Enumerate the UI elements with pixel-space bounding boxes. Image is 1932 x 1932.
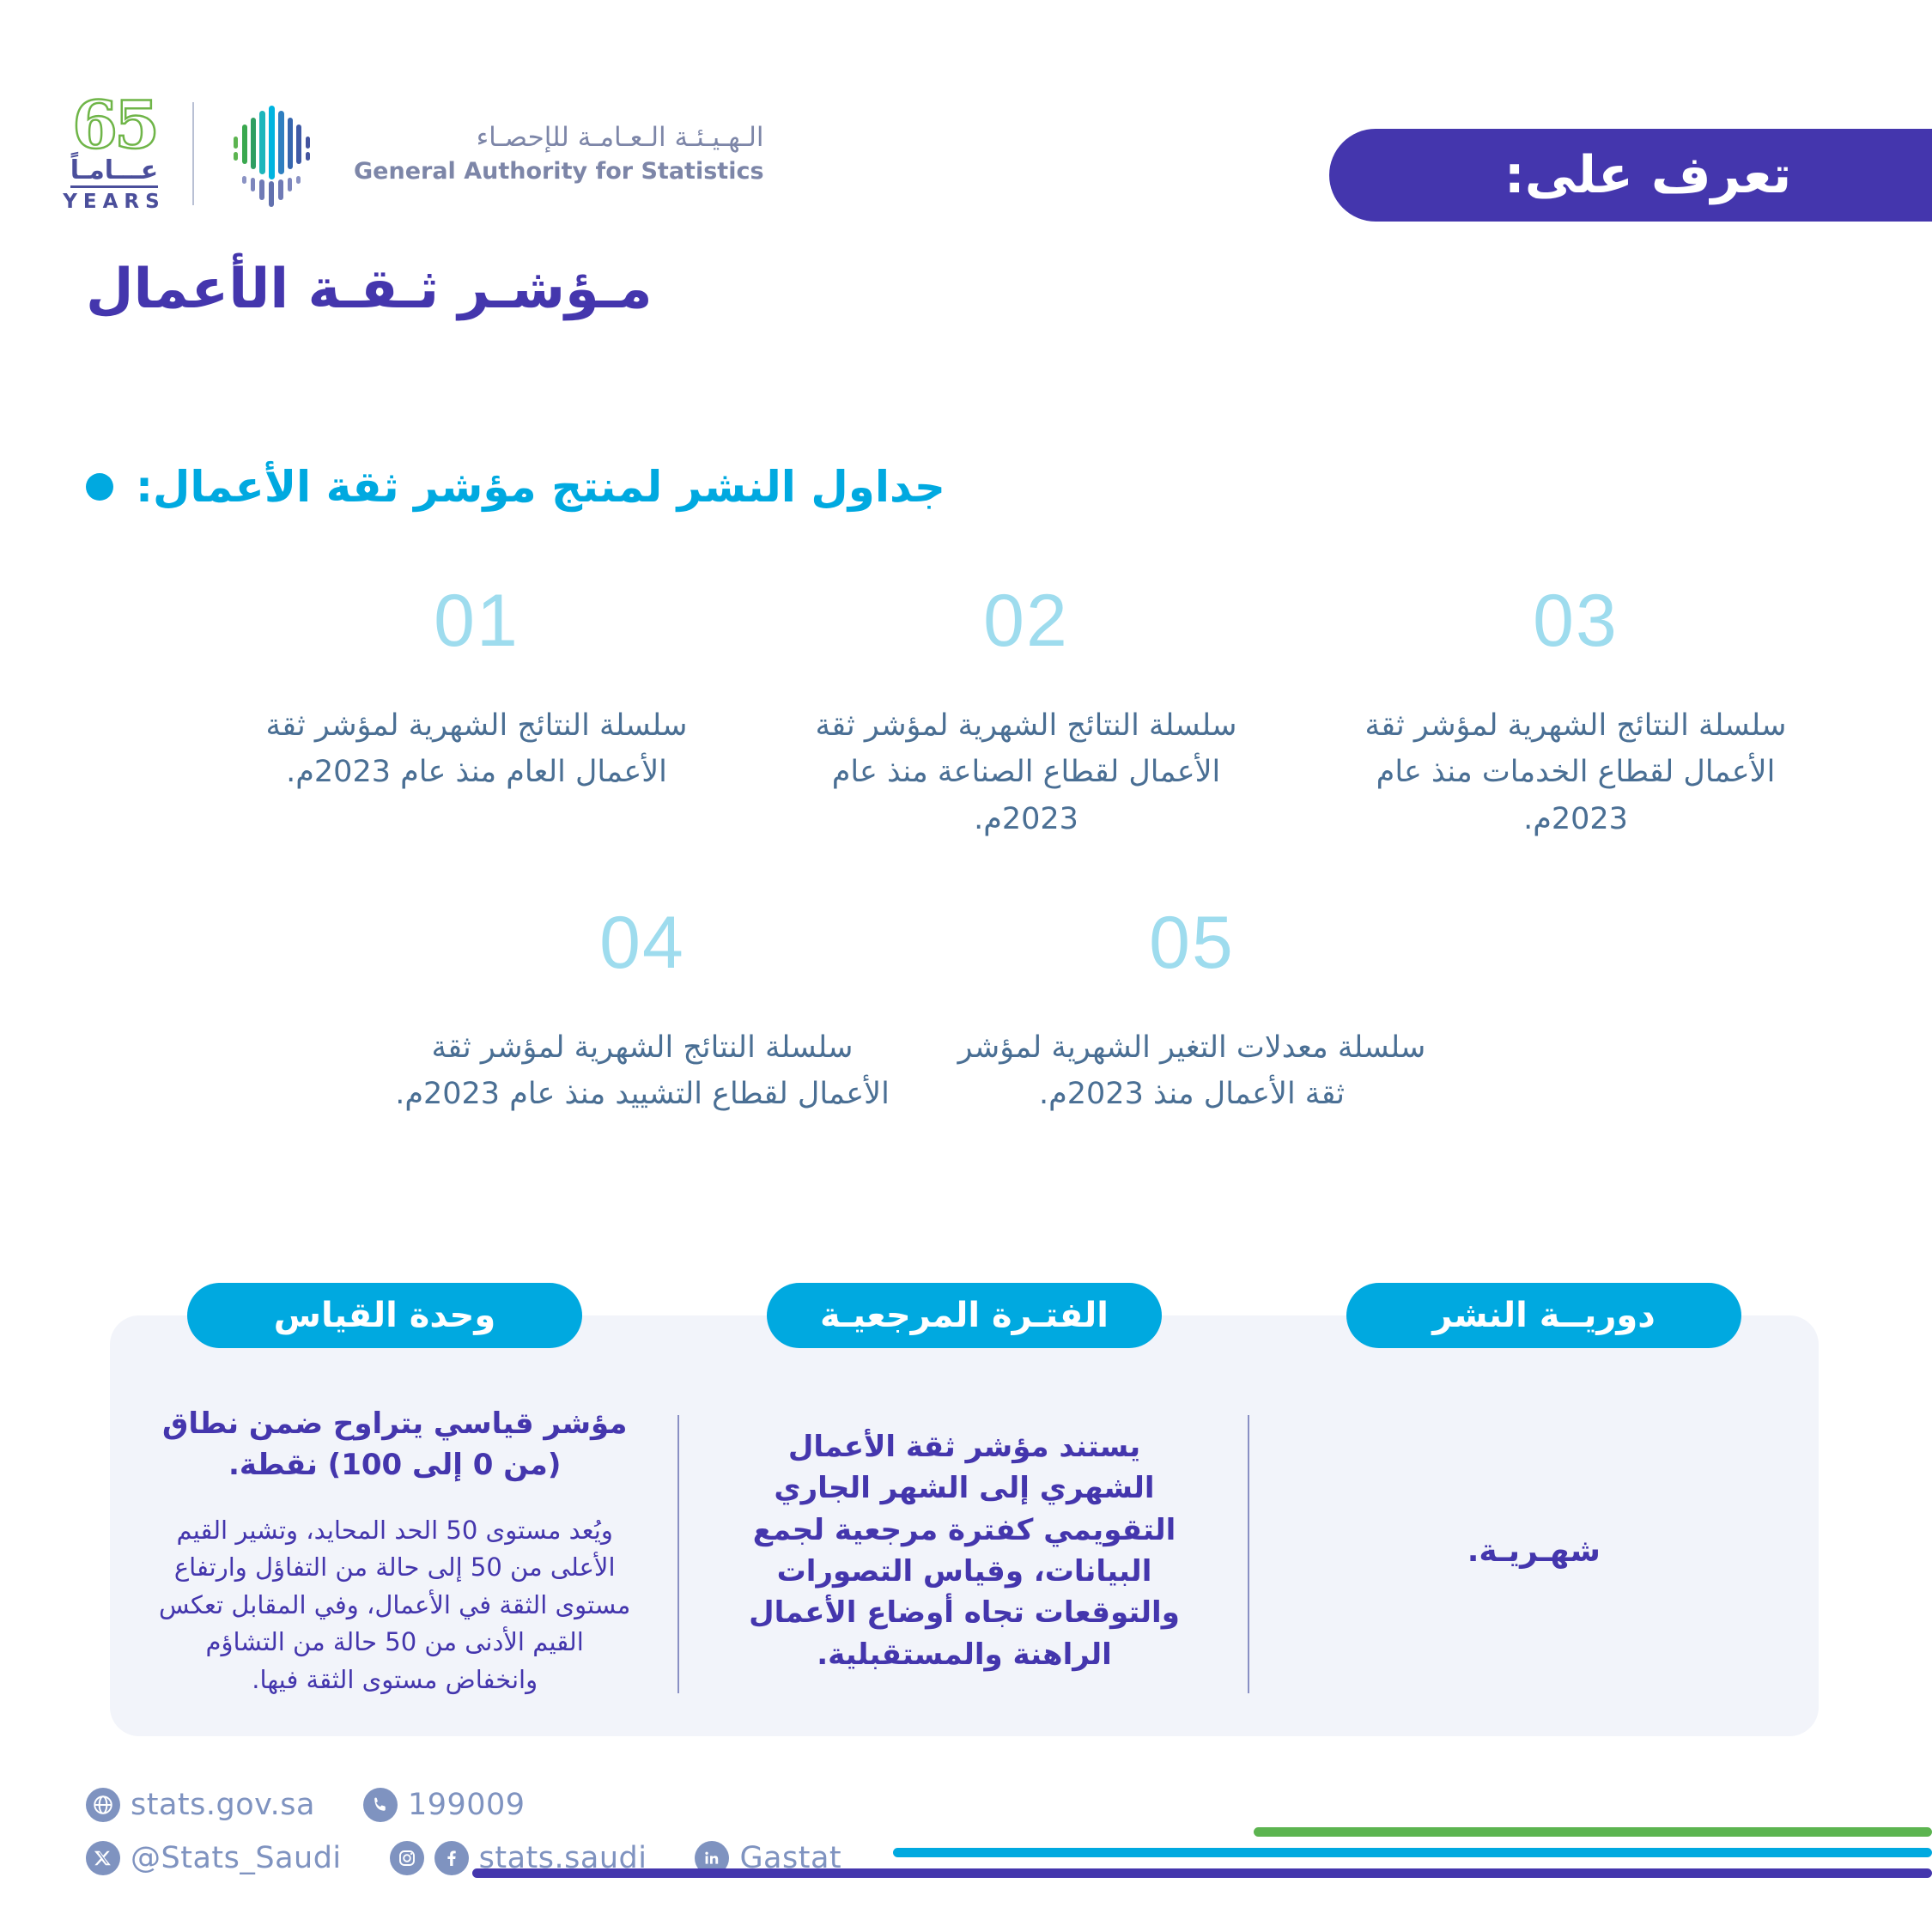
item-number: 04	[599, 906, 685, 980]
bullet-dot-icon	[86, 473, 113, 501]
phone-label: 199009	[408, 1788, 526, 1822]
logo-divider	[192, 102, 194, 205]
publication-frequency-value: شهـريـة.	[1467, 1534, 1601, 1569]
item-description: سلسلة النتائج الشهرية لمؤشر ثقة الأعمال …	[395, 1024, 890, 1118]
tab-label: الفتـرة المرجعيـة	[820, 1296, 1109, 1335]
publication-item-01: 01 سلسلة النتائج الشهرية لمؤشر ثقة الأعم…	[202, 584, 751, 842]
item-description: سلسلة معدلات التغير الشهرية لمؤشر ثقة ال…	[945, 1024, 1439, 1118]
page-title: مـؤشـر ثـقـة الأعمال	[0, 258, 1932, 321]
section-heading-label: جداول النشر لمنتج مؤشر ثقة الأعمال:	[136, 462, 945, 512]
gastat-wordmark: الـهـيـئـة الـعـامـة للإحصـاء General Au…	[354, 122, 764, 185]
footer-website[interactable]: stats.gov.sa	[86, 1788, 315, 1822]
publication-item-03: 03 سلسلة النتائج الشهرية لمؤشر ثقة الأعم…	[1301, 584, 1850, 842]
panel-column-unit-of-measure: مؤشر قياسي يتراوح ضمن نطاق (من 0 إلى 100…	[110, 1365, 679, 1736]
panel-column-reference-period: يستند مؤشر ثقة الأعمال الشهري إلى الشهر …	[679, 1365, 1249, 1736]
item-description: سلسلة النتائج الشهرية لمؤشر ثقة الأعمال …	[779, 702, 1273, 842]
publication-item-02: 02 سلسلة النتائج الشهرية لمؤشر ثقة الأعم…	[751, 584, 1301, 842]
item-number: 02	[983, 584, 1069, 658]
globe-icon	[86, 1788, 120, 1822]
info-panel-columns: شهـريـة. يستند مؤشر ثقة الأعمال الشهري إ…	[110, 1365, 1819, 1736]
tab-unit-of-measure[interactable]: وحدة القياس	[187, 1283, 582, 1348]
tab-publication-frequency[interactable]: دوريــة النشر	[1346, 1283, 1741, 1348]
item-description: سلسلة النتائج الشهرية لمؤشر ثقة الأعمال …	[229, 702, 724, 796]
item-number: 01	[434, 584, 519, 658]
bar-green	[1254, 1827, 1932, 1837]
anniversary-65-logo: 65 عـــامـاً YEARS	[58, 94, 170, 212]
panel-column-publication-frequency: شهـريـة.	[1249, 1365, 1819, 1736]
authority-name-english: General Authority for Statistics	[354, 158, 764, 185]
section-heading: جداول النشر لمنتج مؤشر ثقة الأعمال:	[0, 462, 1932, 512]
phone-icon	[363, 1788, 398, 1822]
footer-phone[interactable]: 199009	[363, 1788, 526, 1822]
item-number: 03	[1533, 584, 1619, 658]
footer-line-1: stats.gov.sa 199009	[86, 1788, 871, 1822]
tab-label: دوريــة النشر	[1432, 1296, 1656, 1335]
publication-item-04: 04 سلسلة النتائج الشهرية لمؤشر ثقة الأعم…	[368, 906, 917, 1118]
authority-name-arabic: الـهـيـئـة الـعـامـة للإحصـاء	[354, 122, 764, 153]
header-banner-label: تعرف على:	[1504, 149, 1791, 201]
infographic-page: 65 عـــامـاً YEARS	[0, 0, 1932, 1932]
tab-reference-period[interactable]: الفتـرة المرجعيـة	[767, 1283, 1162, 1348]
publication-item-05: 05 سلسلة معدلات التغير الشهرية لمؤشر ثقة…	[917, 906, 1467, 1118]
unit-of-measure-lead: مؤشر قياسي يتراوح ضمن نطاق (من 0 إلى 100…	[158, 1403, 631, 1486]
publication-tables-row-2: 05 سلسلة معدلات التغير الشهرية لمؤشر ثقة…	[350, 906, 1467, 1118]
gastat-emblem-icon	[216, 95, 328, 211]
item-description: سلسلة النتائج الشهرية لمؤشر ثقة الأعمال …	[1328, 702, 1823, 842]
website-label: stats.gov.sa	[131, 1788, 315, 1822]
anniversary-arabic-label: عـــامـاً	[70, 158, 159, 188]
header-banner: تعرف على:	[1329, 129, 1932, 222]
info-panel-tabs: دوريــة النشر الفتـرة المرجعيـة وحدة الق…	[110, 1283, 1819, 1348]
publication-tables-row-1: 03 سلسلة النتائج الشهرية لمؤشر ثقة الأعم…	[82, 584, 1850, 842]
bar-purple	[472, 1868, 1932, 1878]
unit-of-measure-body: ويُعد مستوى 50 الحد المحايد، وتشير القيم…	[158, 1512, 631, 1699]
gastat-logo-block: 65 عـــامـاً YEARS	[58, 94, 764, 212]
anniversary-number: 65	[72, 94, 156, 156]
tab-label: وحدة القياس	[274, 1296, 495, 1335]
item-number: 05	[1149, 906, 1235, 980]
footer-decorative-bars	[0, 1827, 1932, 1887]
anniversary-years-label: YEARS	[63, 192, 165, 212]
bar-cyan	[893, 1848, 1932, 1857]
reference-period-text: يستند مؤشر ثقة الأعمال الشهري إلى الشهر …	[727, 1426, 1200, 1675]
